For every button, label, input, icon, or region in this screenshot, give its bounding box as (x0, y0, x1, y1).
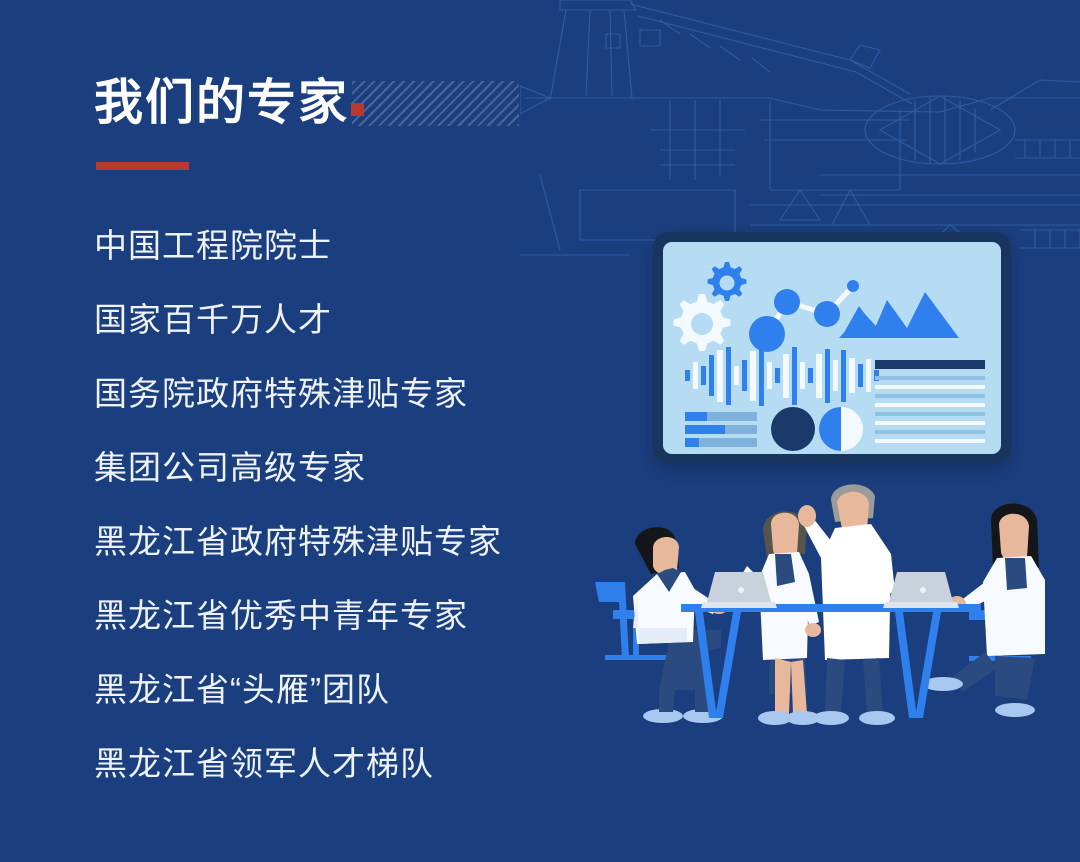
laptop-right (883, 572, 959, 608)
list-item: 黑龙江省优秀中青年专家 (94, 579, 564, 653)
network-graph-icon (749, 280, 859, 352)
dashboard-screen (663, 242, 1001, 454)
donut-solid-icon (771, 407, 815, 451)
text-lines-block (875, 360, 985, 443)
diagonal-hatch-decor (352, 81, 519, 126)
list-item: 黑龙江省“头雁”团队 (94, 653, 564, 727)
red-square-accent (351, 103, 364, 116)
list-item: 中国工程院院士 (94, 209, 564, 283)
team-of-experts-illustration (595, 462, 1045, 752)
list-item: 集团公司高级专家 (94, 431, 564, 505)
list-item: 黑龙江省政府特殊津贴专家 (94, 505, 564, 579)
gear-icon-small-blue (708, 262, 747, 301)
expert-credential-list: 中国工程院院士 国家百千万人才 国务院政府特殊津贴专家 集团公司高级专家 黑龙江… (94, 209, 564, 801)
list-item: 国家百千万人才 (94, 283, 564, 357)
page-title: 我们的专家 (94, 74, 349, 132)
gear-icon-large-white (674, 294, 731, 351)
pie-half-icon (819, 407, 863, 451)
list-item: 国务院政府特殊津贴专家 (94, 357, 564, 431)
mountain-area-chart-icon (839, 292, 959, 338)
red-underline-bar (96, 162, 189, 170)
progress-bars-icon (685, 412, 757, 447)
poster-canvas: 我们的专家 中国工程院院士 国家百千万人才 国务院政府特殊津贴专家 集团公司高级… (0, 0, 1080, 862)
list-item: 黑龙江省领军人才梯队 (94, 727, 564, 801)
dashboard-device-frame (653, 232, 1011, 464)
waveform-bars-icon (685, 346, 879, 406)
turbine-engine-blueprint (520, 0, 1080, 270)
